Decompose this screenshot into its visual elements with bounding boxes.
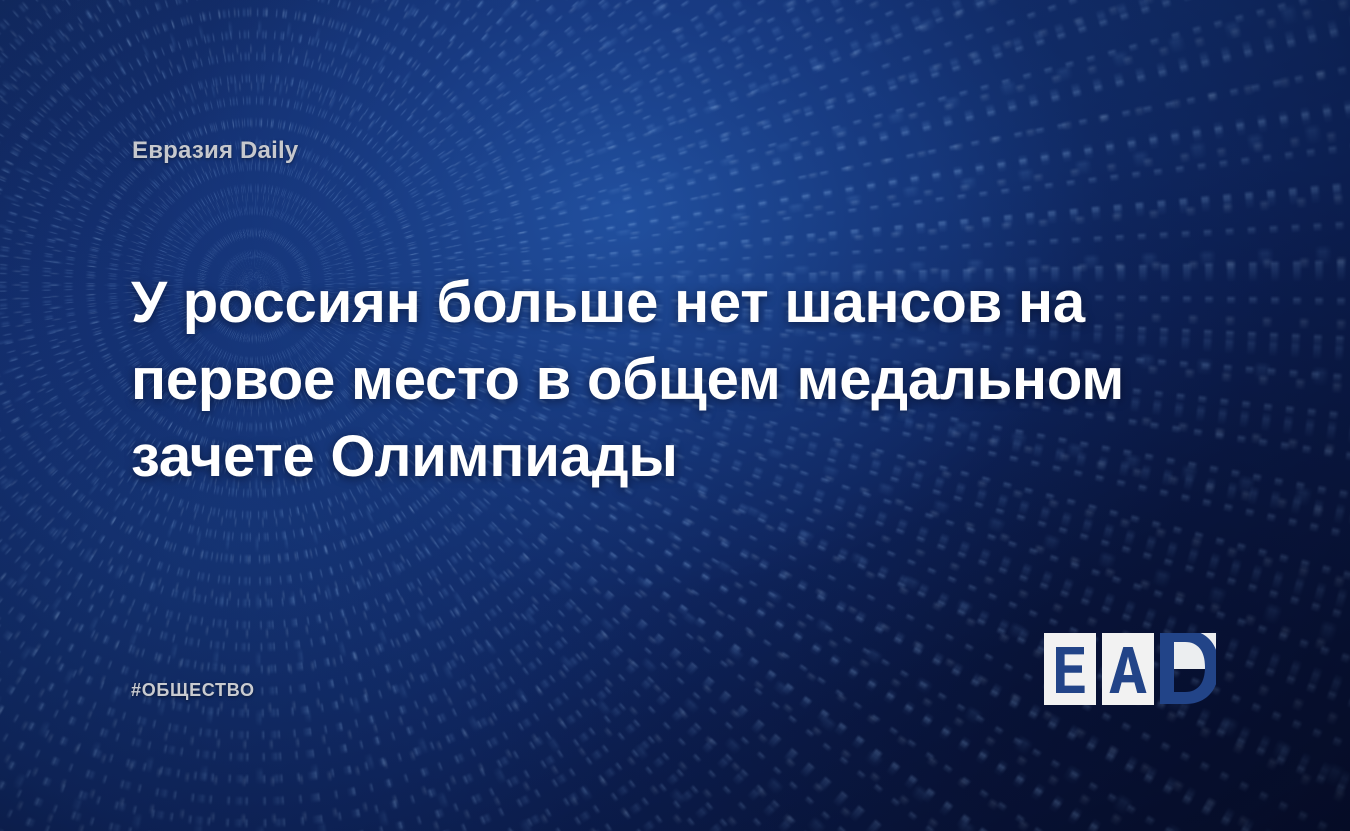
- category-tag[interactable]: #ОБЩЕСТВО: [131, 680, 255, 701]
- logo-tile-d: [1160, 633, 1216, 705]
- logo-tile-a: [1102, 633, 1154, 705]
- logo-tile-e: [1044, 633, 1096, 705]
- news-card: Евразия Daily У россиян больше нет шансо…: [0, 0, 1350, 831]
- letter-d-icon: [1160, 633, 1216, 705]
- card-content: Евразия Daily У россиян больше нет шансо…: [0, 0, 1350, 831]
- site-name: Евразия Daily: [132, 137, 298, 165]
- letter-e-icon: [1053, 645, 1087, 693]
- ead-logo[interactable]: [1044, 633, 1216, 705]
- letter-a-icon: [1109, 645, 1147, 693]
- article-headline: У россиян больше нет шансов на первое ме…: [131, 264, 1236, 495]
